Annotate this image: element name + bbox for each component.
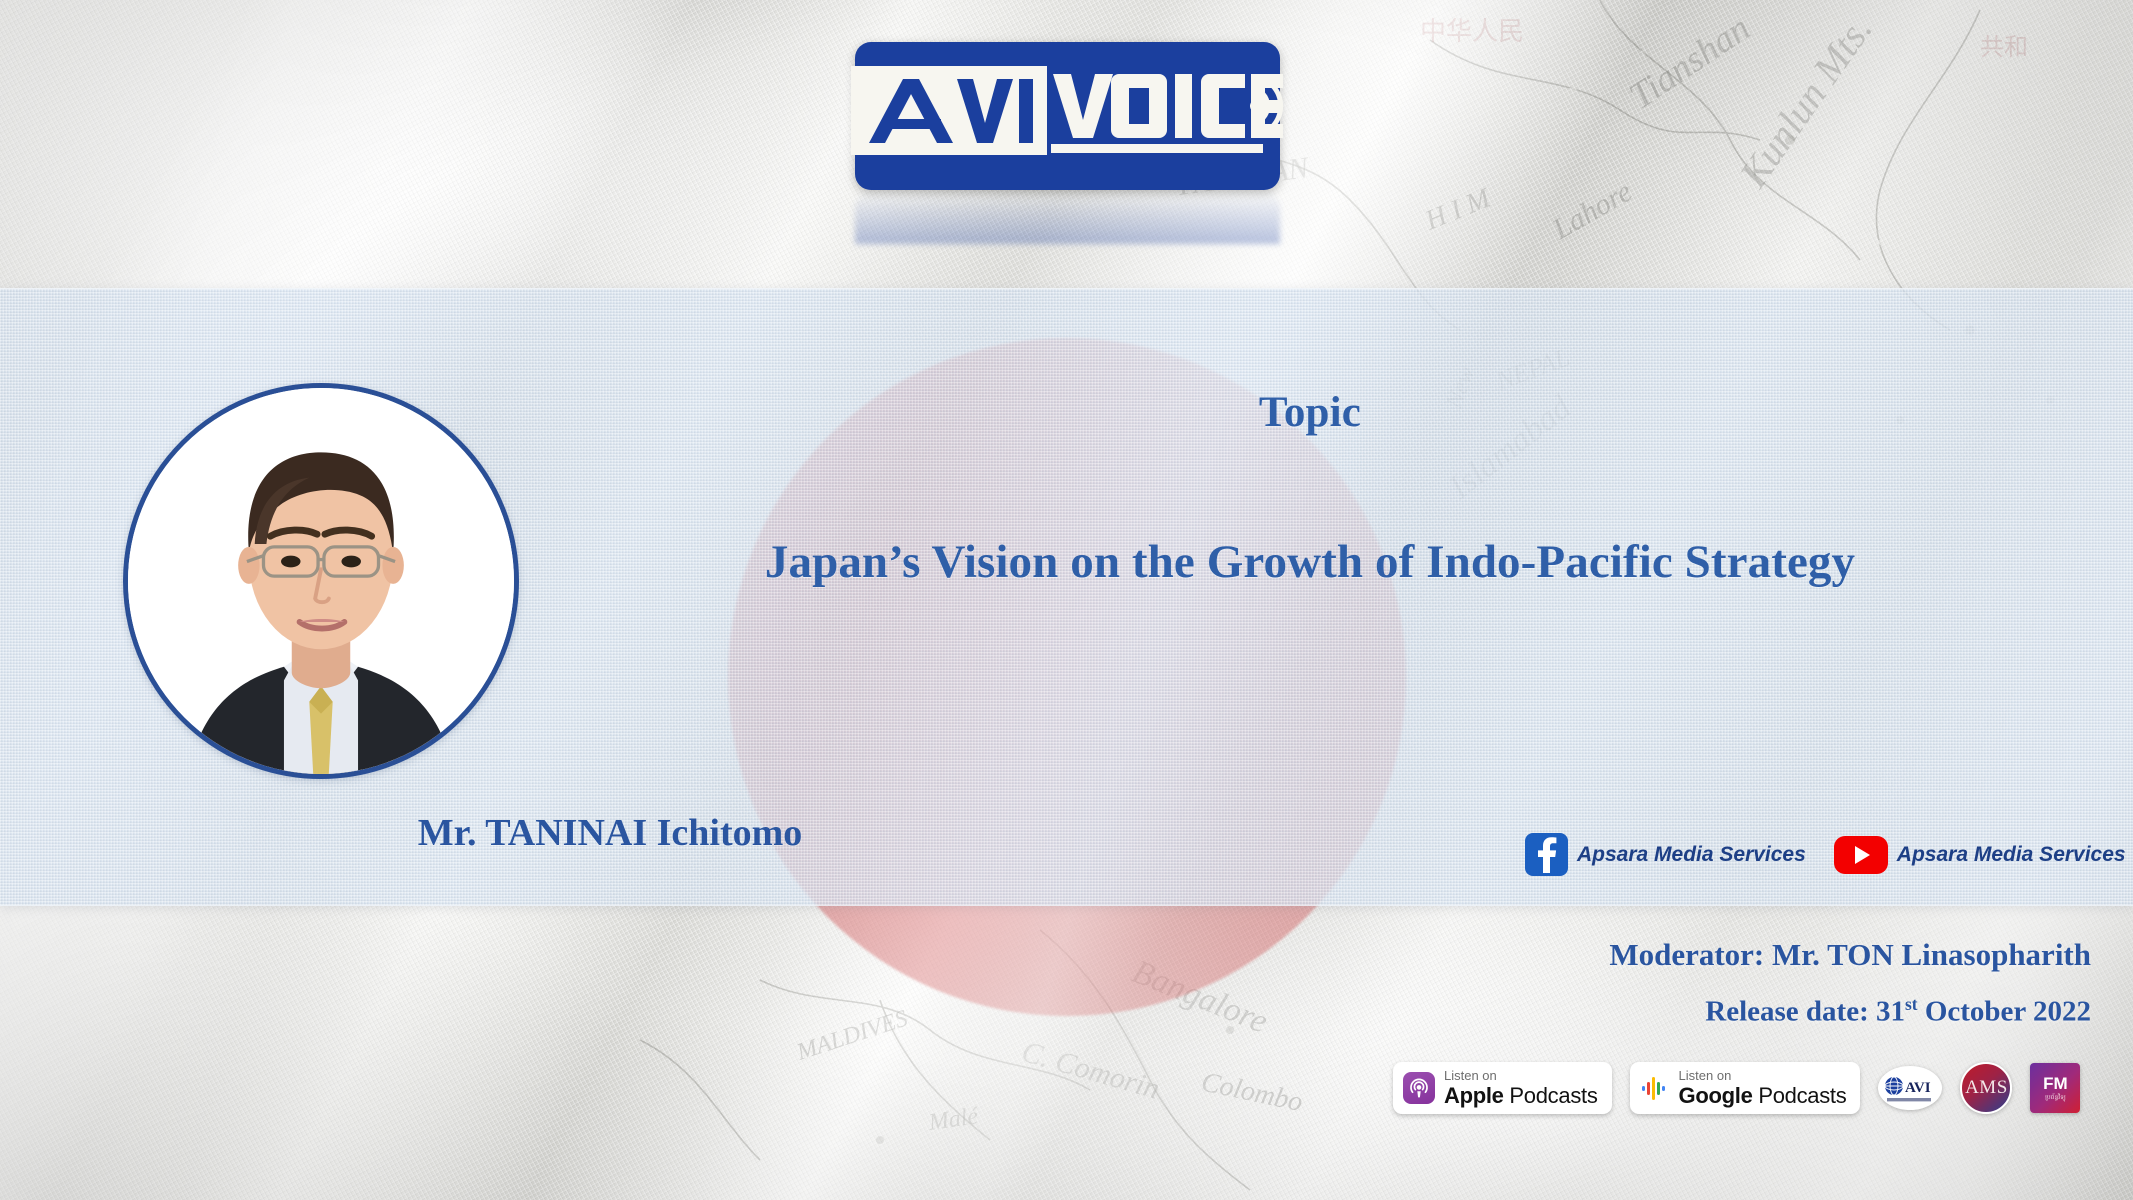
page-title: Japan’s Vision on the Growth of Indo-Pac… <box>620 535 2000 589</box>
logo-reflection <box>855 192 1280 244</box>
apple-podcasts-badge[interactable]: Listen on Apple Podcasts <box>1393 1062 1612 1114</box>
svg-text:共和: 共和 <box>1980 34 2028 61</box>
voice-wordmark <box>1049 66 1285 166</box>
youtube-link[interactable]: Apsara Media Services <box>1834 836 2126 874</box>
fm-sublabel: ប្រព័ន្ធវិទ្យុ <box>2045 1095 2066 1101</box>
ams-logo[interactable]: AMS <box>1960 1062 2012 1114</box>
avi-institute-logo[interactable]: AVI <box>1878 1066 1942 1110</box>
google-badge-word: Podcasts <box>1753 1083 1847 1108</box>
svg-text:Tianshan: Tianshan <box>1622 8 1757 118</box>
facebook-link[interactable]: Apsara Media Services <box>1525 833 1806 876</box>
logo-card <box>855 42 1280 190</box>
facebook-icon[interactable] <box>1525 833 1568 876</box>
release-date-suffix: October 2022 <box>1918 996 2091 1028</box>
youtube-label: Apsara Media Services <box>1897 843 2126 867</box>
svg-text:Malé: Malé <box>926 1103 981 1136</box>
svg-text:Lahore: Lahore <box>1546 175 1637 247</box>
release-date-prefix: Release date: 31 <box>1705 996 1905 1028</box>
ams-label: AMS <box>1965 1077 2008 1099</box>
moderator-line: Moderator: Mr. TON Linasopharith <box>1609 937 2091 973</box>
platform-badges: Listen on Apple Podcasts Listen on Googl… <box>1393 1062 2080 1114</box>
fm-label: FM <box>2043 1075 2068 1092</box>
google-podcasts-icon <box>1640 1073 1670 1103</box>
svg-text:AVI: AVI <box>1905 1080 1931 1096</box>
release-date-ordinal: st <box>1905 994 1918 1014</box>
google-podcasts-badge[interactable]: Listen on Google Podcasts <box>1630 1062 1861 1114</box>
facebook-label: Apsara Media Services <box>1577 843 1806 867</box>
svg-text:Colombo: Colombo <box>1199 1067 1306 1119</box>
speaker-portrait <box>123 383 519 779</box>
fm-radio-logo[interactable]: FM ប្រព័ន្ធវិទ្យុ <box>2030 1063 2080 1113</box>
topic-label: Topic <box>1120 388 1500 437</box>
apple-badge-word: Podcasts <box>1504 1083 1598 1108</box>
apple-badge-line1: Listen on <box>1444 1069 1598 1082</box>
youtube-icon[interactable] <box>1834 836 1888 874</box>
google-badge-line1: Listen on <box>1679 1069 1847 1082</box>
google-badge-line2: Google Podcasts <box>1679 1085 1847 1107</box>
svg-text:中华人民: 中华人民 <box>1420 17 1524 46</box>
slide-canvas: Tianshan Kunlun Mts. Islamabad Lahore Ba… <box>0 0 2133 1200</box>
google-badge-brand: Google <box>1679 1083 1753 1108</box>
apple-podcasts-icon <box>1403 1072 1435 1104</box>
apple-badge-line2: Apple Podcasts <box>1444 1085 1598 1107</box>
avi-wordmark <box>851 66 1047 155</box>
release-date-line: Release date: 31st October 2022 <box>1705 994 2091 1029</box>
social-links: Apsara Media Services Apsara Media Servi… <box>1525 833 2126 876</box>
apple-badge-brand: Apple <box>1444 1083 1504 1108</box>
avi-voice-logo[interactable] <box>855 42 1280 190</box>
svg-text:MALDIVES: MALDIVES <box>793 1006 911 1066</box>
svg-text:C. Comorin: C. Comorin <box>1018 1035 1163 1106</box>
speaker-name: Mr. TANINAI Ichitomo <box>330 811 890 855</box>
